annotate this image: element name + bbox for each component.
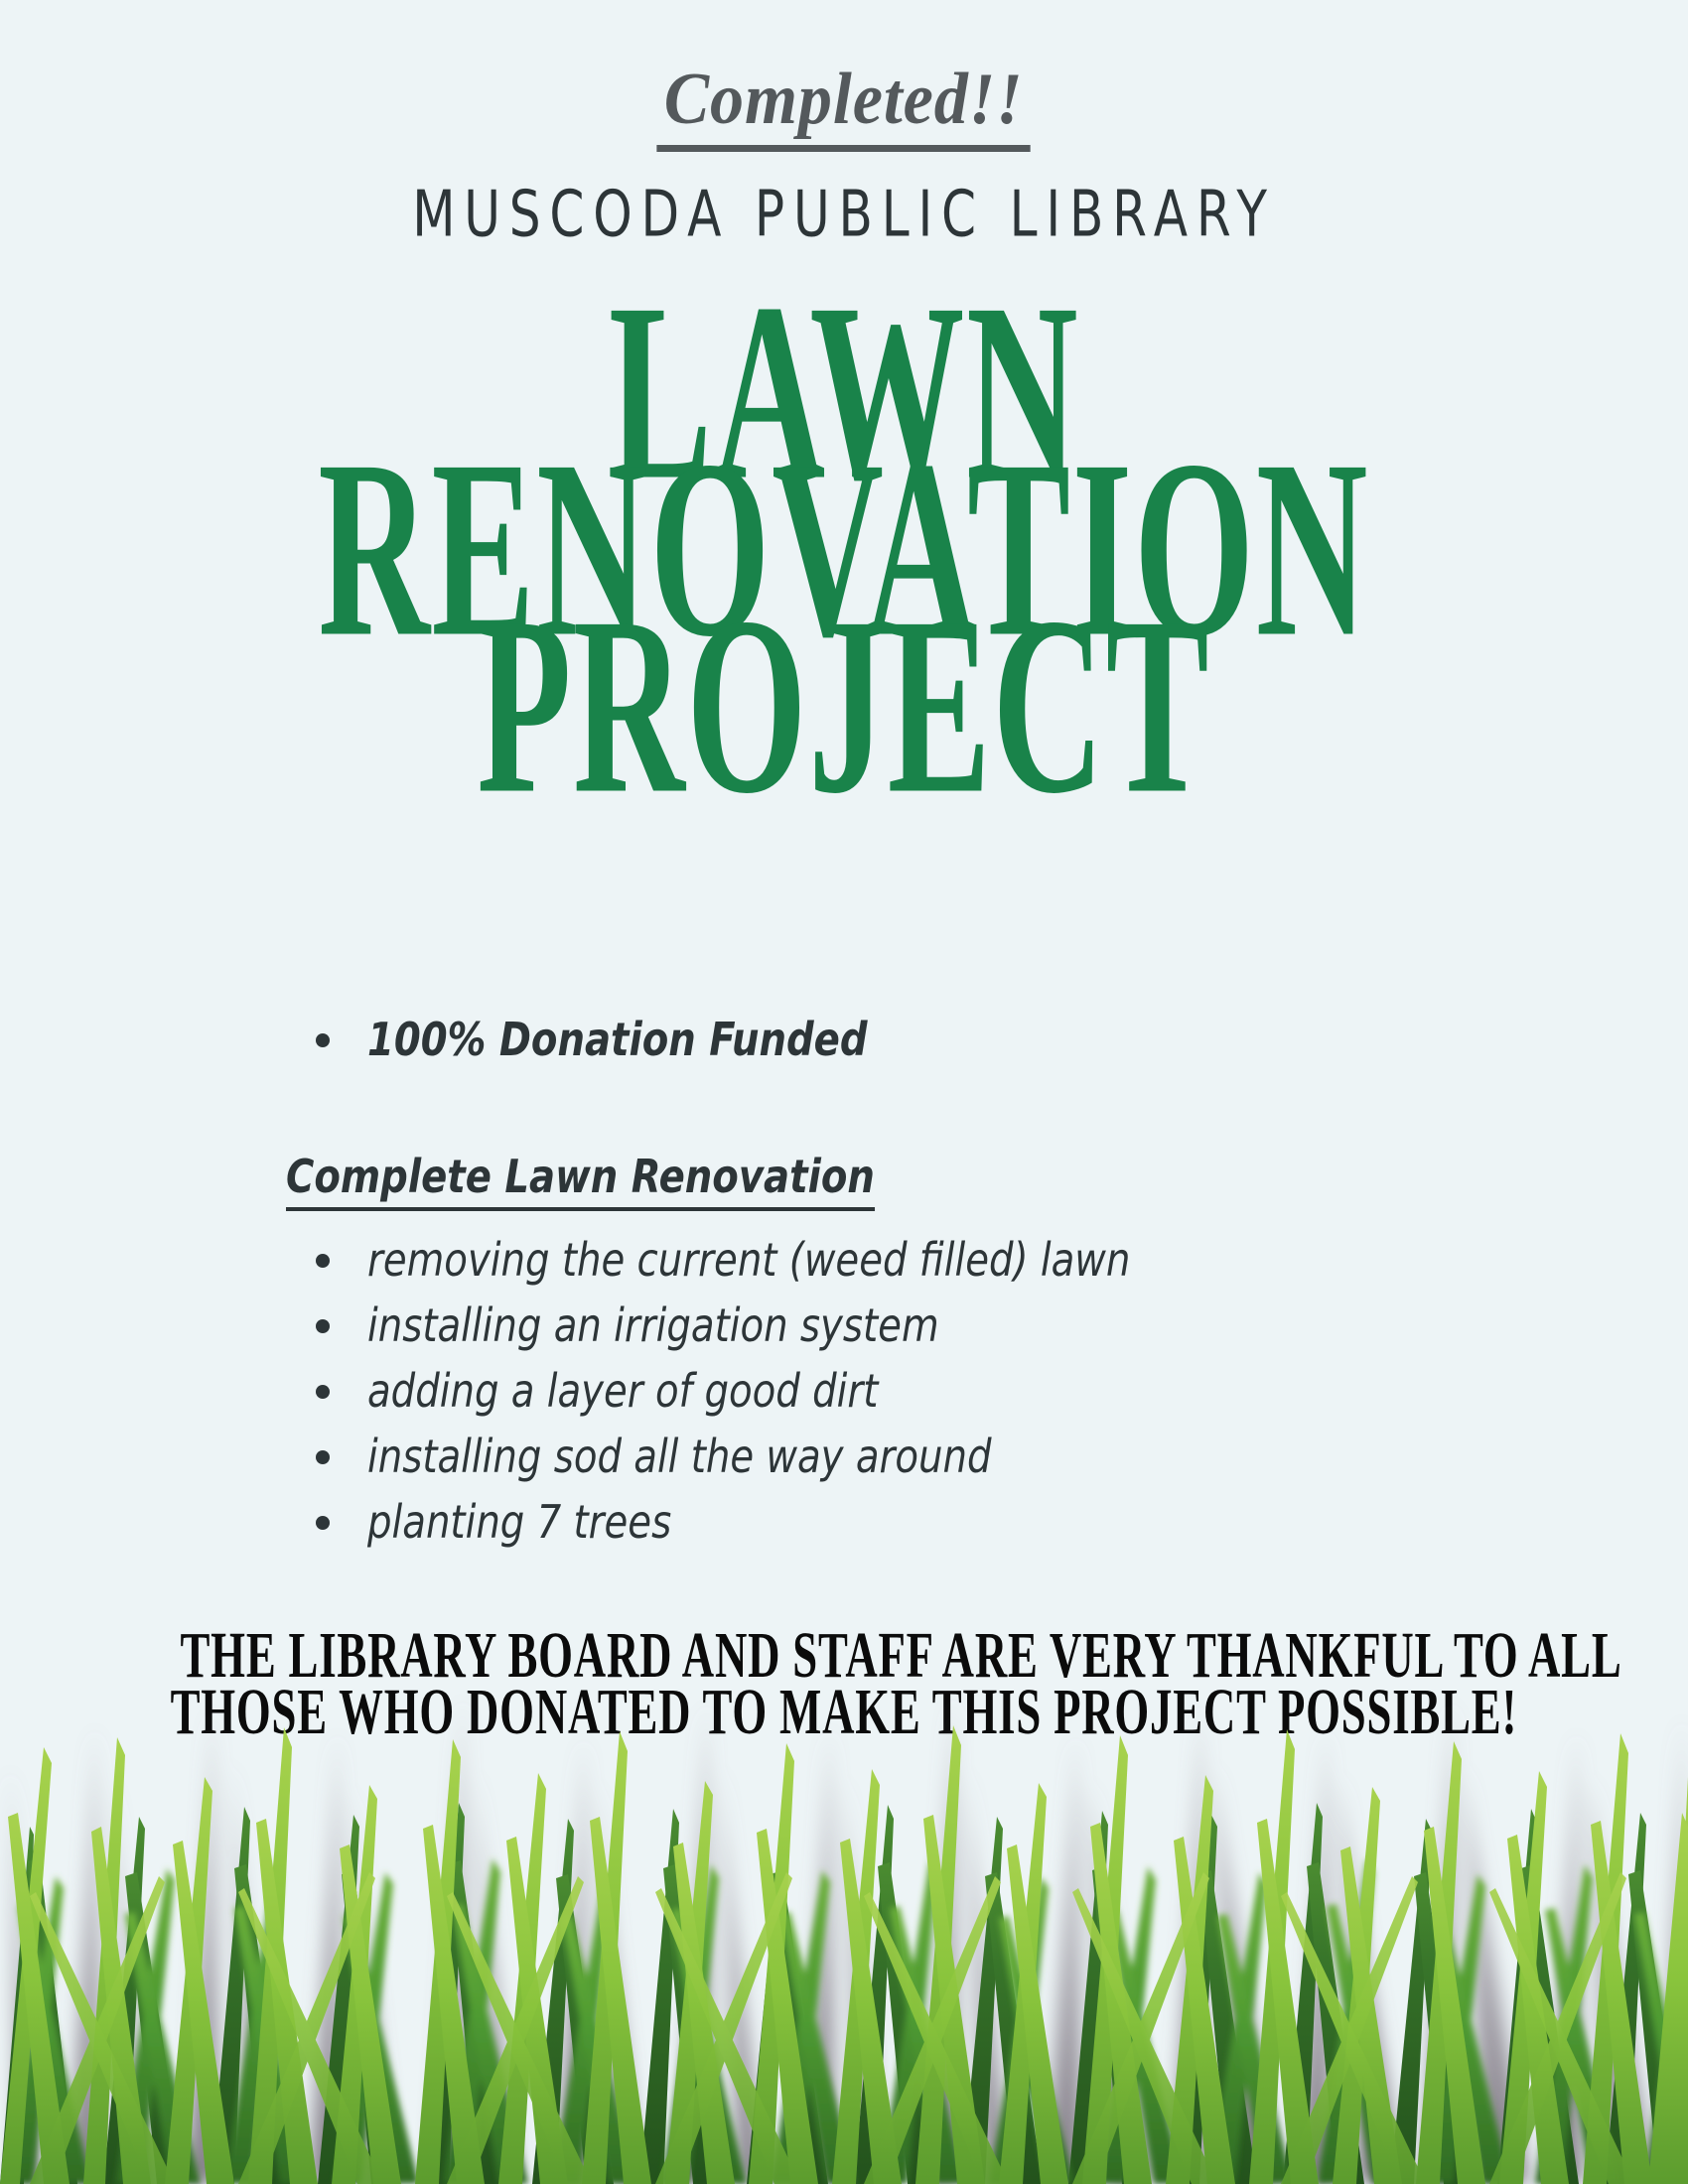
grass-shadow-layer bbox=[10, 1696, 1688, 2184]
list-item: installing an irrigation system bbox=[316, 1298, 1688, 1352]
grass-mid-layer bbox=[6, 1858, 1688, 2184]
funding-bullet-row: 100% Donation Funded bbox=[0, 1013, 1688, 1066]
grass-accent-layer bbox=[30, 1872, 1634, 2184]
list-item-label: installing an irrigation system bbox=[367, 1298, 939, 1352]
list-item: removing the current (weed filled) lawn bbox=[316, 1233, 1688, 1287]
thank-you-line-2-text: THOSE WHO DONATED TO MAKE THIS PROJECT P… bbox=[171, 1680, 1518, 1746]
scope-heading-row: Complete Lawn Renovation bbox=[0, 1150, 1688, 1211]
thank-you-message: THE LIBRARY BOARD AND STAFF ARE VERY THA… bbox=[0, 1628, 1688, 1741]
bullet-point-icon bbox=[316, 1516, 330, 1530]
flyer-page: Completed!! MUSCODA PUBLIC LIBRARY LAWN … bbox=[0, 0, 1688, 2184]
header-section: Completed!! MUSCODA PUBLIC LIBRARY bbox=[0, 0, 1688, 247]
page-title: LAWN RENOVATION PROJECT bbox=[0, 298, 1688, 802]
scope-heading: Complete Lawn Renovation bbox=[286, 1150, 875, 1211]
bullet-point-icon bbox=[316, 1033, 330, 1047]
bullet-point-icon bbox=[316, 1319, 330, 1333]
bullet-point-icon bbox=[316, 1385, 330, 1399]
bullet-point-icon bbox=[316, 1450, 330, 1464]
thank-you-line-2: THOSE WHO DONATED TO MAKE THIS PROJECT P… bbox=[0, 1685, 1688, 1741]
list-item: installing sod all the way around bbox=[316, 1430, 1688, 1483]
page-title-line-3-text: PROJECT bbox=[478, 585, 1211, 829]
bullet-point-icon bbox=[316, 1254, 330, 1268]
list-item: planting 7 trees bbox=[316, 1495, 1688, 1549]
status-banner: Completed!! bbox=[657, 62, 1032, 152]
grass-dark-layer bbox=[0, 1803, 1688, 2184]
list-item-label: removing the current (weed filled) lawn bbox=[367, 1233, 1130, 1287]
funding-bullet-label: 100% Donation Funded bbox=[367, 1013, 868, 1066]
status-banner-wrap: Completed!! bbox=[0, 62, 1688, 152]
body-section: 100% Donation Funded Complete Lawn Renov… bbox=[0, 1013, 1688, 1561]
list-item-label: adding a layer of good dirt bbox=[367, 1364, 878, 1418]
list-item-label: installing sod all the way around bbox=[367, 1430, 992, 1483]
list-item-label: planting 7 trees bbox=[367, 1495, 671, 1549]
list-item: adding a layer of good dirt bbox=[316, 1364, 1688, 1418]
grass-bright-layer bbox=[0, 1725, 1688, 2184]
scope-item-list: removing the current (weed filled) lawn … bbox=[0, 1233, 1688, 1549]
organization-name: MUSCODA PUBLIC LIBRARY bbox=[101, 178, 1587, 251]
